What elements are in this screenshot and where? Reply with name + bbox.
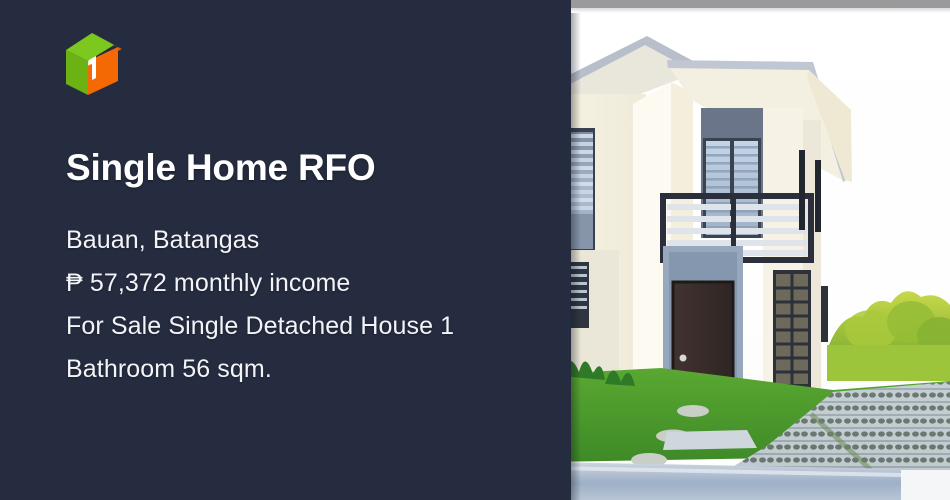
house-photograph <box>571 0 950 500</box>
listing-location: Bauan, Batangas <box>66 219 536 262</box>
page-title: Single Home RFO <box>66 149 375 188</box>
photo-top-band-fade <box>571 8 950 13</box>
listing-description: For Sale Single Detached House 1 Bathroo… <box>66 305 536 391</box>
listing-info-panel: Single Home RFO Bauan, Batangas ₱ 57,372… <box>0 0 571 500</box>
listing-details: Bauan, Batangas ₱ 57,372 monthly income … <box>66 219 536 391</box>
listing-income: ₱ 57,372 monthly income <box>66 262 536 305</box>
property-listing-card: Single Home RFO Bauan, Batangas ₱ 57,372… <box>0 0 950 500</box>
photo-top-band <box>571 0 950 8</box>
property-photo <box>571 0 950 500</box>
house-logo-icon[interactable] <box>66 33 531 95</box>
